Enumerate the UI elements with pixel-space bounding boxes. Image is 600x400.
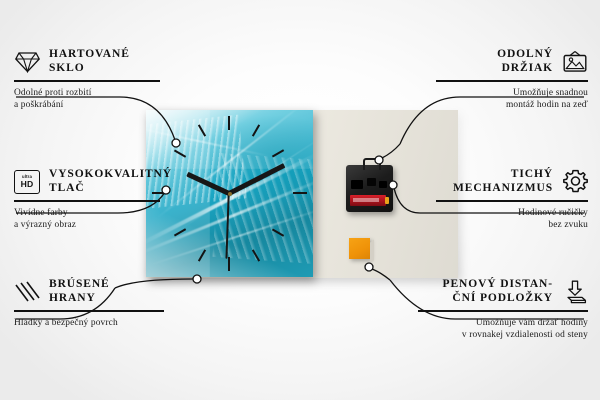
feature-titles: ODOLNÝ DRŽIAK bbox=[497, 48, 553, 75]
feature-title-line2: DRŽIAK bbox=[497, 62, 553, 76]
feature-divider bbox=[436, 80, 588, 81]
feature-title-line2: MECHANIZMUS bbox=[453, 182, 553, 196]
connector-line-6b bbox=[372, 269, 390, 280]
feature-sub-line2: v rovnakej vzdialenosti od steny bbox=[418, 329, 588, 342]
feature-sub-line1: Vivídne farby bbox=[14, 207, 160, 220]
feature-title-line1: VYSOKOKVALITNÝ bbox=[49, 168, 172, 182]
down-arrow-pad-icon bbox=[562, 279, 588, 305]
feature-title-line1: ODOLNÝ bbox=[497, 48, 553, 62]
connector-dot-4 bbox=[375, 156, 383, 164]
feature-header: HARTOVANÉ SKLO bbox=[14, 48, 160, 75]
feature-title-line2: HRANY bbox=[49, 292, 110, 306]
feature-header: TICHÝ MECHANIZMUS bbox=[436, 168, 588, 195]
connector-dot-6 bbox=[365, 263, 373, 271]
feature-titles: PENOVÝ DISTAN- ČNÍ PODLOŽKY bbox=[443, 278, 553, 305]
feature-divider bbox=[14, 200, 160, 201]
feature-header: BRÚSENÉ HRANY bbox=[14, 278, 164, 305]
feature-subtitle: Umožňuje vám držať hodiny v rovnakej vzd… bbox=[418, 317, 588, 342]
hd-badge-bottom: HD bbox=[21, 180, 34, 189]
feature-sub-line1: Umožňuje snadnou bbox=[436, 87, 588, 100]
diamond-icon bbox=[14, 49, 40, 75]
feature-tempered-glass: HARTOVANÉ SKLO Odolné proti rozbití a po… bbox=[14, 48, 160, 112]
feature-silent-mechanism: TICHÝ MECHANIZMUS Hodinové ručičky bez z… bbox=[436, 168, 588, 232]
feature-sub-line1: Odolné proti rozbití bbox=[14, 87, 160, 100]
feature-divider bbox=[14, 80, 160, 81]
feature-sub-line2: a poškrábání bbox=[14, 99, 160, 112]
feature-durable-hanger: ODOLNÝ DRŽIAK Umožňuje snadnou montáž ho… bbox=[436, 48, 588, 112]
diagonal-lines-icon bbox=[14, 279, 40, 305]
feature-sub-line2: a výrazný obraz bbox=[14, 219, 160, 232]
feature-polished-edges: BRÚSENÉ HRANY Hladký a bezpečný povrch bbox=[14, 278, 164, 329]
connector-dot-5 bbox=[389, 181, 397, 189]
hd-badge: ultra HD bbox=[14, 170, 40, 194]
feature-subtitle: Hladký a bezpečný povrch bbox=[14, 317, 164, 330]
feature-titles: VYSOKOKVALITNÝ TLAČ bbox=[49, 168, 172, 195]
feature-subtitle: Umožňuje snadnou montáž hodin na zeď bbox=[436, 87, 588, 112]
feature-title-line1: HARTOVANÉ bbox=[49, 48, 130, 62]
feature-header: ODOLNÝ DRŽIAK bbox=[436, 48, 588, 75]
feature-header: ultra HD VYSOKOKVALITNÝ TLAČ bbox=[14, 168, 160, 195]
feature-title-line2: TLAČ bbox=[49, 182, 172, 196]
infographic-canvas: HARTOVANÉ SKLO Odolné proti rozbití a po… bbox=[0, 0, 600, 400]
feature-sub-line1: Umožňuje vám držať hodiny bbox=[418, 317, 588, 330]
feature-foam-spacers: PENOVÝ DISTAN- ČNÍ PODLOŽKY Umožňuje vám… bbox=[418, 278, 588, 342]
feature-titles: HARTOVANÉ SKLO bbox=[49, 48, 130, 75]
feature-sub-line2: bez zvuku bbox=[436, 219, 588, 232]
feature-title-line1: TICHÝ bbox=[453, 168, 553, 182]
feature-divider bbox=[436, 200, 588, 201]
feature-sub-line1: Hodinové ručičky bbox=[436, 207, 588, 220]
ultra-hd-icon: ultra HD bbox=[14, 169, 40, 195]
feature-divider bbox=[14, 310, 164, 311]
feature-title-line2: SKLO bbox=[49, 62, 130, 76]
feature-sub-line1: Hladký a bezpečný povrch bbox=[14, 317, 164, 330]
feature-subtitle: Hodinové ručičky bez zvuku bbox=[436, 207, 588, 232]
feature-title-line1: BRÚSENÉ bbox=[49, 278, 110, 292]
feature-hd-print: ultra HD VYSOKOKVALITNÝ TLAČ Vivídne far… bbox=[14, 168, 160, 232]
feature-titles: TICHÝ MECHANIZMUS bbox=[453, 168, 553, 195]
feature-title-line2: ČNÍ PODLOŽKY bbox=[443, 292, 553, 306]
feature-subtitle: Vivídne farby a výrazný obraz bbox=[14, 207, 160, 232]
feature-divider bbox=[418, 310, 588, 311]
connector-line-4b bbox=[382, 144, 400, 158]
connector-dot-3 bbox=[193, 275, 201, 283]
gear-icon bbox=[562, 169, 588, 195]
feature-subtitle: Odolné proti rozbití a poškrábání bbox=[14, 87, 160, 112]
feature-header: PENOVÝ DISTAN- ČNÍ PODLOŽKY bbox=[418, 278, 588, 305]
picture-frame-icon bbox=[562, 49, 588, 75]
connector-dot-1 bbox=[172, 139, 180, 147]
feature-title-line1: PENOVÝ DISTAN- bbox=[443, 278, 553, 292]
feature-titles: BRÚSENÉ HRANY bbox=[49, 278, 110, 305]
feature-sub-line2: montáž hodin na zeď bbox=[436, 99, 588, 112]
